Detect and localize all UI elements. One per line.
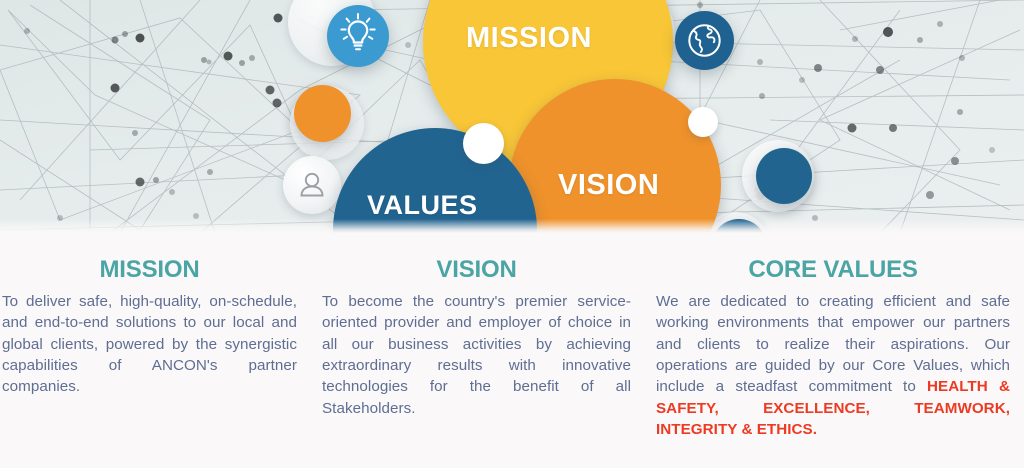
vision-heading: VISION [322,257,631,282]
values-label: VALUES [367,190,478,221]
white-accent-circle-2 [688,107,718,137]
core-values-text: We are dedicated to creating efficient a… [656,291,1010,440]
hero-bottom-fade [0,219,1024,233]
mission-heading: MISSION [2,257,297,282]
mission-label: MISSION [466,22,592,55]
blue-accent-circle [756,148,812,204]
globe-icon [675,11,734,70]
vision-label: VISION [558,169,659,202]
lightbulb-icon [327,5,389,67]
page-root: MISSION VALUES VISION [0,0,1024,468]
mission-text: To deliver safe, high-quality, on-schedu… [2,291,297,397]
hero-banner: MISSION VALUES VISION [0,0,1024,233]
column-vision: VISION To become the country's premier s… [311,233,645,468]
column-core-values: CORE VALUES We are dedicated to creating… [645,233,1024,468]
orange-accent-circle [294,85,351,142]
core-values-heading: CORE VALUES [656,257,1010,282]
person-icon [283,156,341,214]
content-columns: MISSION To deliver safe, high-quality, o… [0,233,1024,468]
vision-text: To become the country's premier service-… [322,291,631,419]
white-accent-circle [463,123,504,164]
column-mission: MISSION To deliver safe, high-quality, o… [0,233,311,468]
